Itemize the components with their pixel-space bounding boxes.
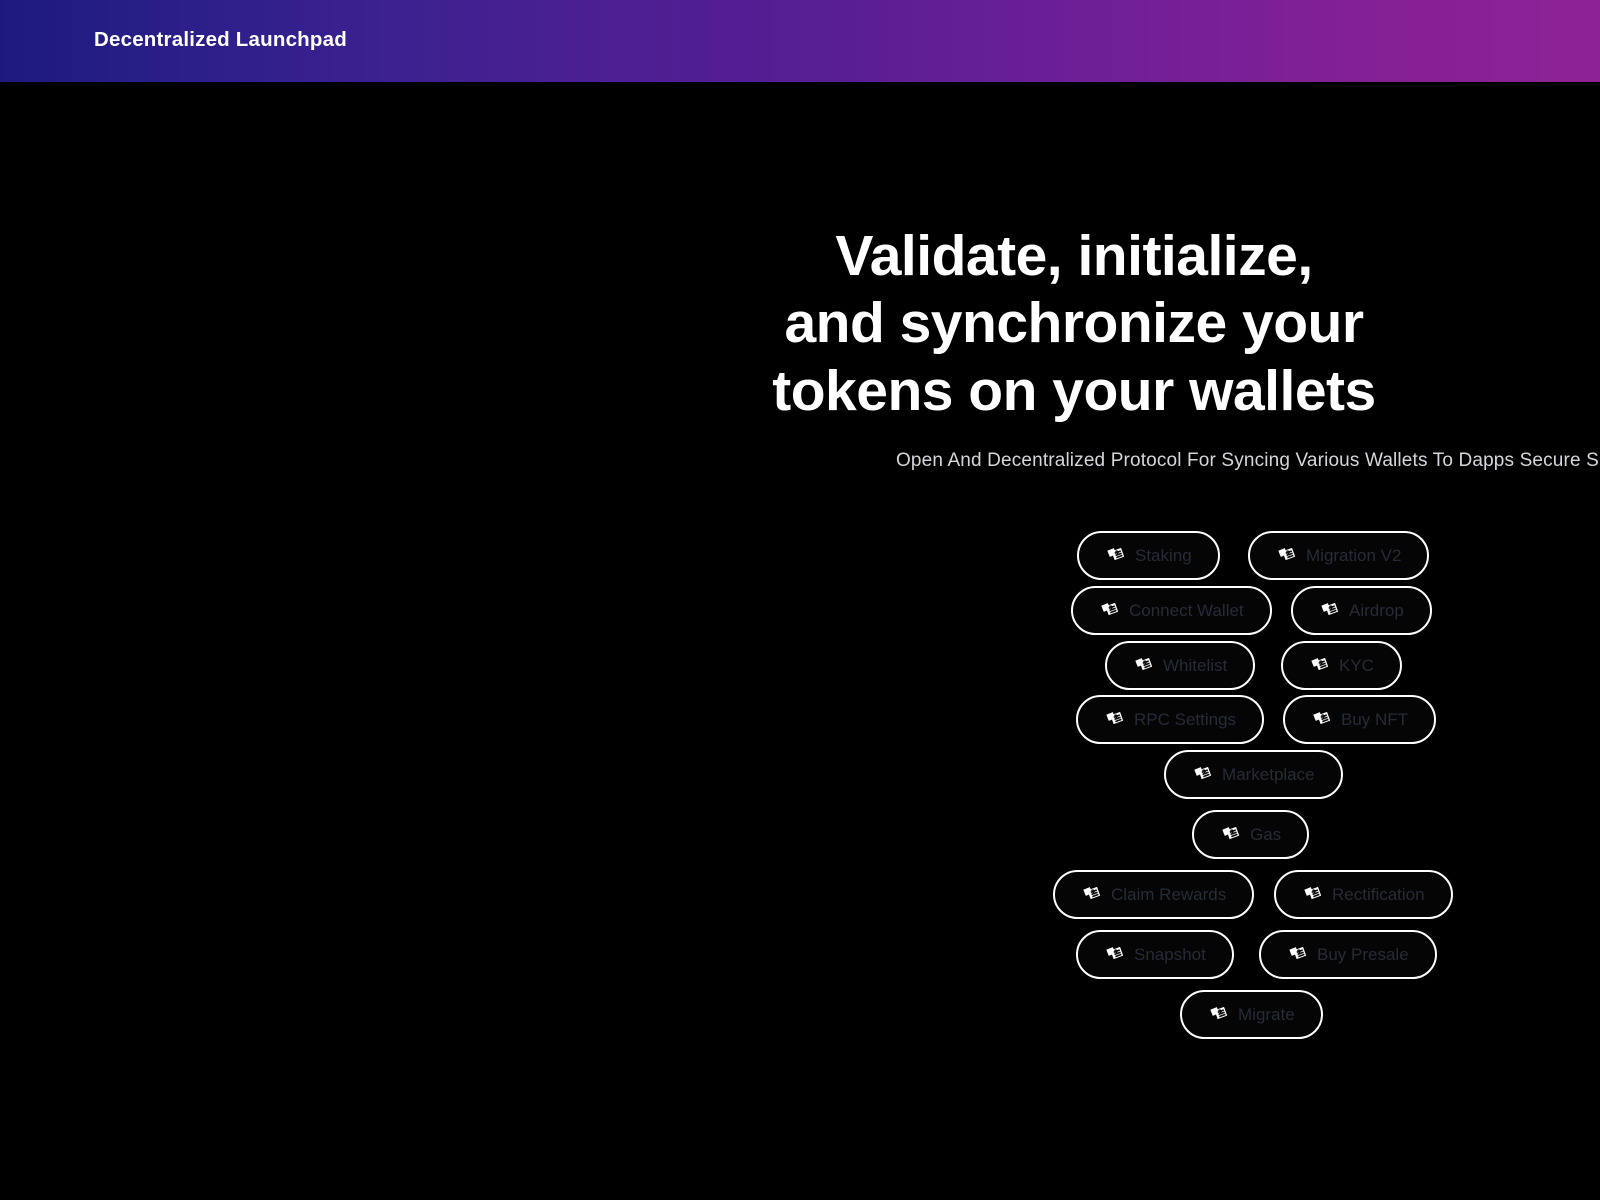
pill-whitelist[interactable]: Whitelist <box>1105 641 1255 690</box>
documents-stack-icon <box>1276 545 1297 566</box>
pill-kyc[interactable]: KYC <box>1281 641 1402 690</box>
pill-staking[interactable]: Staking <box>1077 531 1220 580</box>
documents-stack-icon <box>1133 655 1154 676</box>
hero-section: Validate, initialize, and synchronize yo… <box>0 82 1600 1200</box>
pill-label: Snapshot <box>1134 945 1206 965</box>
documents-stack-icon <box>1105 545 1126 566</box>
pill-label: Buy Presale <box>1317 945 1409 965</box>
pill-label: Migration V2 <box>1306 546 1401 566</box>
pill-label: Airdrop <box>1349 601 1404 621</box>
pill-label: RPC Settings <box>1134 710 1236 730</box>
page-title: Decentralized Launchpad <box>94 28 347 52</box>
hero-subtitle: Open And Decentralized Protocol For Sync… <box>896 450 1599 472</box>
pill-label: Gas <box>1250 825 1281 845</box>
pill-connect-wallet[interactable]: Connect Wallet <box>1071 586 1272 635</box>
pill-rectification[interactable]: Rectification <box>1274 870 1453 919</box>
pill-claim-rewards[interactable]: Claim Rewards <box>1053 870 1254 919</box>
documents-stack-icon <box>1208 1004 1229 1025</box>
site-header: Decentralized Launchpad Validate Wallet <box>0 0 1600 82</box>
pill-buy-nft[interactable]: Buy NFT <box>1283 695 1436 744</box>
pill-gas[interactable]: Gas <box>1192 810 1309 859</box>
pill-label: Claim Rewards <box>1111 885 1226 905</box>
pill-label: Connect Wallet <box>1129 601 1244 621</box>
pill-buy-presale[interactable]: Buy Presale <box>1259 930 1437 979</box>
pill-label: Migrate <box>1238 1005 1295 1025</box>
documents-stack-icon <box>1081 884 1102 905</box>
pill-snapshot[interactable]: Snapshot <box>1076 930 1234 979</box>
hero-heading: Validate, initialize, and synchronize yo… <box>274 223 1600 425</box>
documents-stack-icon <box>1319 600 1340 621</box>
pill-label: Marketplace <box>1222 765 1315 785</box>
documents-stack-icon <box>1192 764 1213 785</box>
pill-label: Buy NFT <box>1341 710 1408 730</box>
documents-stack-icon <box>1104 709 1125 730</box>
pill-airdrop[interactable]: Airdrop <box>1291 586 1432 635</box>
documents-stack-icon <box>1104 944 1125 965</box>
documents-stack-icon <box>1287 944 1308 965</box>
pill-rpc-settings[interactable]: RPC Settings <box>1076 695 1264 744</box>
documents-stack-icon <box>1311 709 1332 730</box>
pill-label: KYC <box>1339 656 1374 676</box>
pill-migrate[interactable]: Migrate <box>1180 990 1323 1039</box>
pill-label: Whitelist <box>1163 656 1227 676</box>
pill-marketplace[interactable]: Marketplace <box>1164 750 1343 799</box>
pill-migration-v2[interactable]: Migration V2 <box>1248 531 1429 580</box>
documents-stack-icon <box>1302 884 1323 905</box>
documents-stack-icon <box>1309 655 1330 676</box>
documents-stack-icon <box>1220 824 1241 845</box>
documents-stack-icon <box>1099 600 1120 621</box>
pill-label: Staking <box>1135 546 1192 566</box>
pill-label: Rectification <box>1332 885 1425 905</box>
